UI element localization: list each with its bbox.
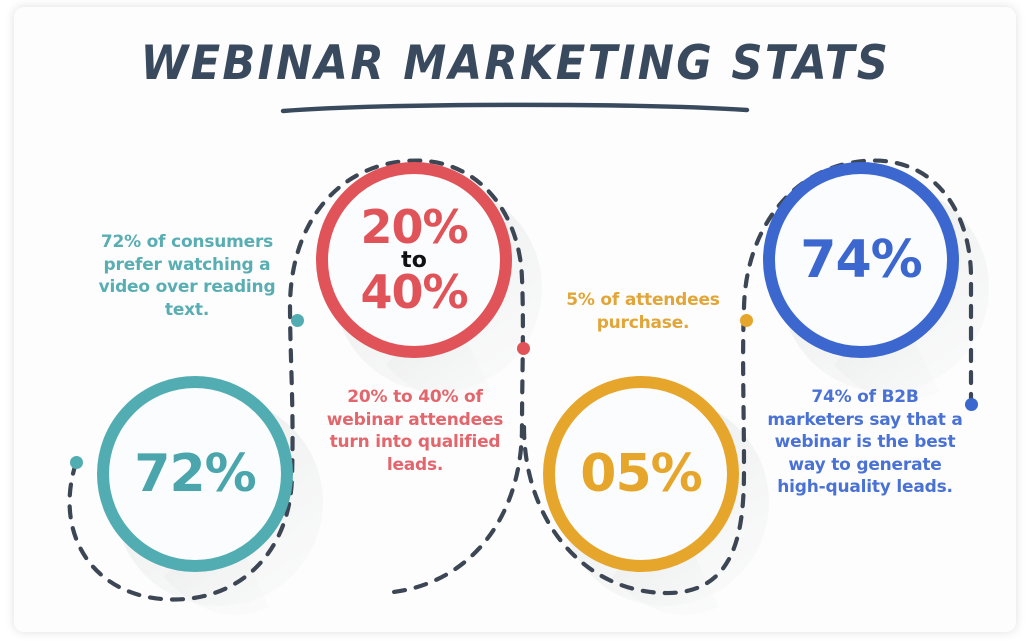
path-node-dot-start-teal xyxy=(70,456,83,469)
stat-value-72: 72% xyxy=(134,449,255,500)
stat-caption-attendees-purchase: 5% of attendees purchase. xyxy=(548,289,738,334)
path-node-dot-blue-end xyxy=(965,398,978,411)
stat-value-05: 05% xyxy=(580,449,701,500)
stat-value-40: 40% xyxy=(360,270,467,315)
stat-circle-consumers-prefer-video[interactable]: 72% xyxy=(97,376,293,572)
stat-circle-attendees-qualified-leads[interactable]: 20% to 40% xyxy=(316,162,512,358)
page-title: WEBINAR MARKETING STATS xyxy=(140,39,890,88)
stat-caption-b2b-marketers-webinar: 74% of B2B marketers say that a webinar … xyxy=(767,386,963,499)
stat-caption-attendees-qualified-leads: 20% to 40% of webinar attendees turn int… xyxy=(325,386,505,476)
stat-value-74: 74% xyxy=(800,235,921,286)
title-underline-icon xyxy=(279,101,751,115)
stat-caption-consumers-prefer-video: 72% of consumers prefer watching a video… xyxy=(92,231,282,321)
stat-circle-b2b-marketers-webinar[interactable]: 74% xyxy=(763,162,959,358)
stat-circle-attendees-purchase[interactable]: 05% xyxy=(543,376,739,572)
infographic-card: WEBINAR MARKETING STATS 72% of consumers… xyxy=(14,7,1016,632)
page-title-block: WEBINAR MARKETING STATS xyxy=(14,39,1016,88)
path-node-dot-amber xyxy=(740,314,753,327)
path-node-dot-teal xyxy=(291,314,304,327)
path-node-dot-red xyxy=(517,342,530,355)
infographic-canvas: WEBINAR MARKETING STATS 72% of consumers… xyxy=(0,0,1030,641)
stat-value-20: 20% xyxy=(360,205,467,250)
